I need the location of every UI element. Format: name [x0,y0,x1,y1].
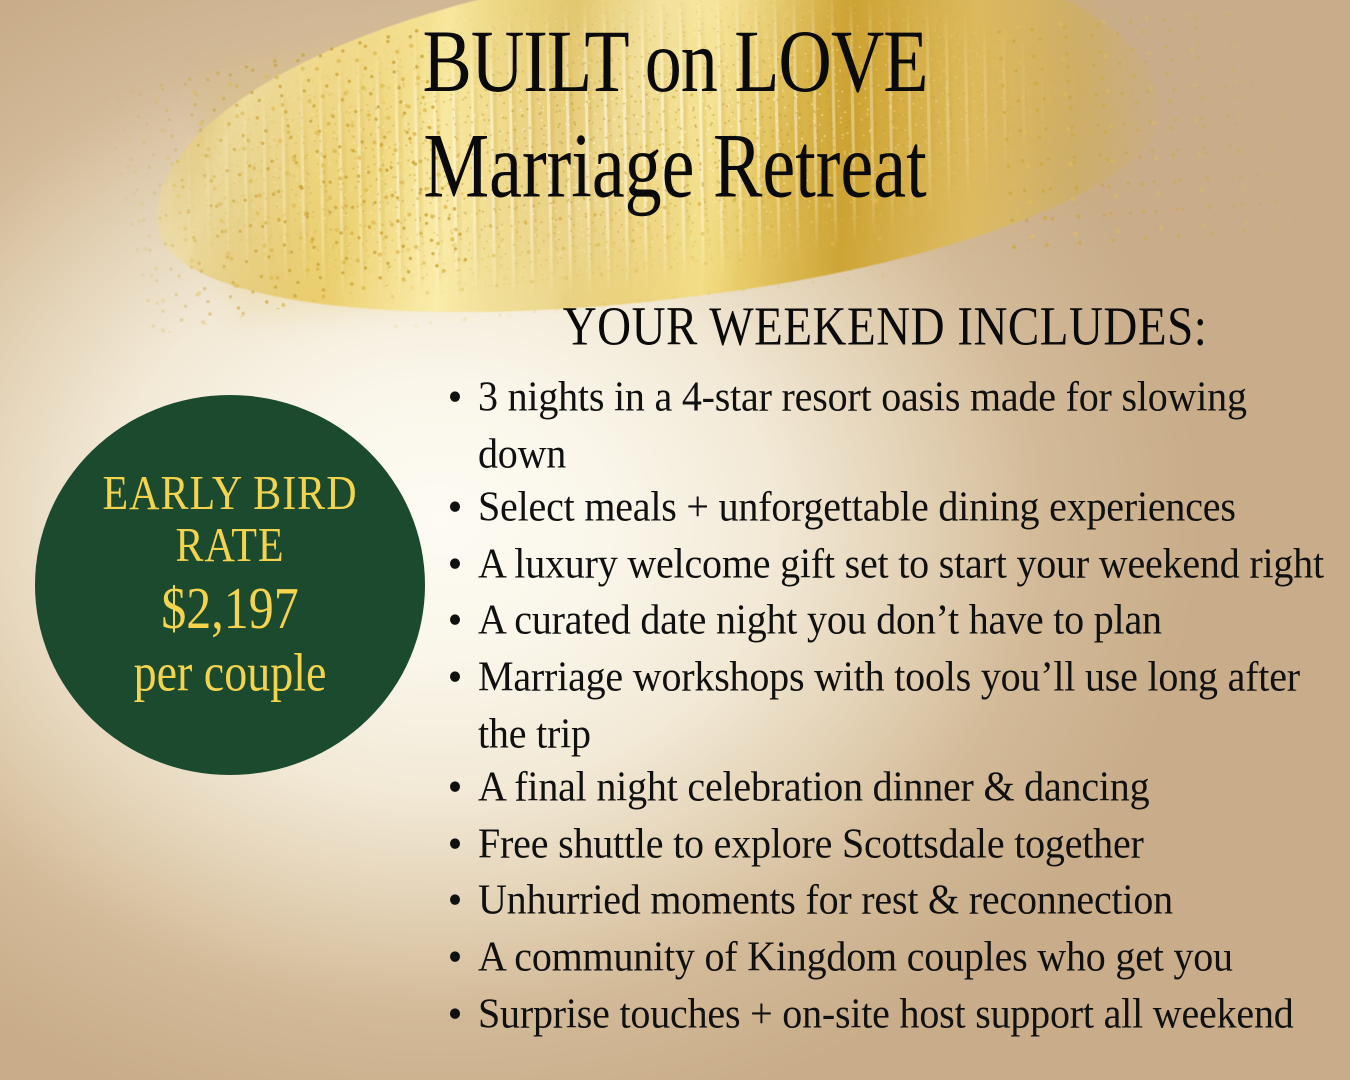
list-item: A luxury welcome gift set to start your … [430,535,1340,592]
badge-line-rate: RATE [176,520,285,573]
list-item: Marriage workshops with tools you’ll use… [430,648,1340,762]
includes-heading: YOUR WEEKEND INCLUDES: [430,296,1340,359]
list-item: A community of Kingdom couples who get y… [430,928,1340,985]
early-bird-rate-badge: EARLY BIRD RATE $2,197 per couple [35,395,425,775]
poster-title: BUILT on LOVE Marriage Retreat [0,18,1350,197]
list-item: Free shuttle to explore Scottsdale toget… [430,815,1340,872]
marriage-retreat-flyer: BUILT on LOVE Marriage Retreat EARLY BIR… [0,0,1350,1080]
list-item: Select meals + unforgettable dining expe… [430,478,1340,535]
weekend-includes-section: YOUR WEEKEND INCLUDES: 3 nights in a 4-s… [430,296,1340,1041]
badge-line-early-bird: EARLY BIRD [102,468,357,521]
list-item: Unhurried moments for rest & reconnectio… [430,871,1340,928]
badge-price: $2,197 [161,576,299,641]
list-item: A curated date night you don’t have to p… [430,591,1340,648]
includes-bullet-list: 3 nights in a 4-star resort oasis made f… [430,368,1340,1038]
badge-price-unit: per couple [134,644,327,704]
list-item: Surprise touches + on-site host support … [430,985,1340,1042]
list-item: 3 nights in a 4-star resort oasis made f… [430,368,1340,482]
title-line-secondary: Marriage Retreat [0,121,1350,215]
list-item: A final night celebration dinner & danci… [430,758,1340,815]
title-line-primary: BUILT on LOVE [0,18,1350,109]
